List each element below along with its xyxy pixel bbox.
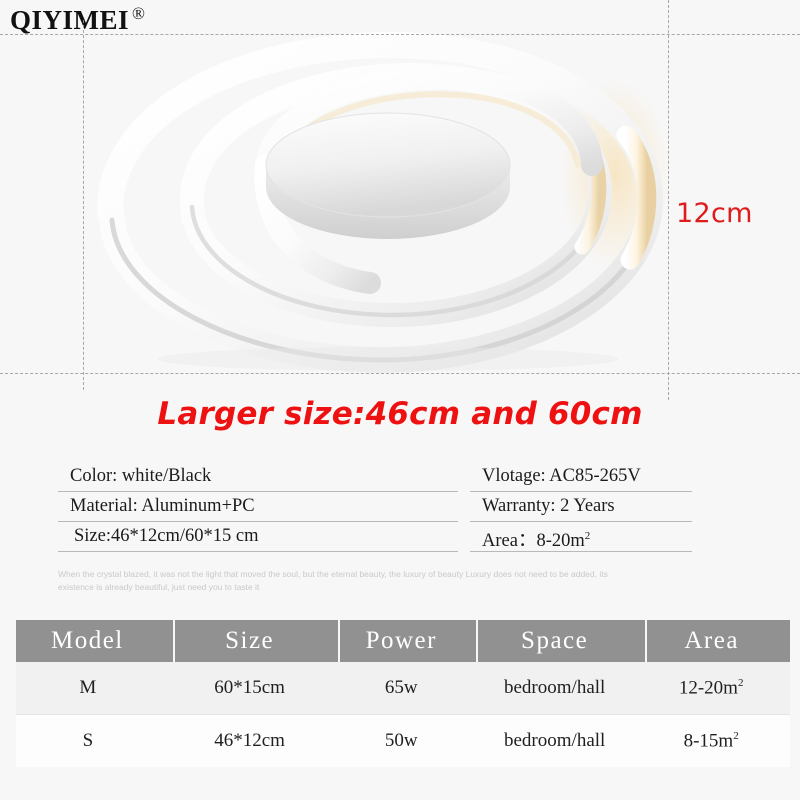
model-comparison-table: Model Size Power Space Area M 60*15cm 65…	[16, 620, 790, 767]
specification-summary: Color: white/Black Material: Aluminum+PC…	[0, 462, 800, 557]
spiral-ceiling-lamp-illustration	[70, 15, 690, 385]
cell-area: 8-15m2	[646, 715, 790, 768]
spec-area: Area：8-20m2	[470, 522, 692, 552]
cell-area-superscript: 2	[733, 730, 739, 742]
table-row: M 60*15cm 65w bedroom/hall 12-20m2	[16, 662, 790, 715]
cell-power: 50w	[339, 715, 477, 768]
spec-material: Material: Aluminum+PC	[58, 492, 458, 522]
cell-space: bedroom/hall	[477, 715, 646, 768]
spec-area-value: 8-20m	[536, 531, 584, 551]
product-listing-page: QIYIMEI®	[0, 0, 800, 800]
column-header-power: Power	[339, 620, 477, 662]
measure-guide-top	[0, 34, 800, 35]
column-header-space: Space	[477, 620, 646, 662]
cell-area: 12-20m2	[646, 662, 790, 715]
measure-guide-right	[668, 0, 669, 400]
cell-model: M	[16, 662, 174, 715]
measure-guide-bottom	[0, 373, 800, 374]
cell-area-value: 12-20m	[679, 677, 738, 698]
column-header-area: Area	[646, 620, 790, 662]
product-hero-image: 12cm	[0, 0, 800, 390]
table-row: S 46*12cm 50w bedroom/hall 8-15m2	[16, 715, 790, 768]
marketing-blurb: When the crystal blazed, it was not the …	[58, 568, 618, 594]
measure-guide-left	[83, 20, 84, 390]
spec-column-left: Color: white/Black Material: Aluminum+PC…	[58, 462, 458, 552]
spec-area-superscript: 2	[585, 530, 591, 542]
cell-size: 60*15cm	[174, 662, 340, 715]
spec-color: Color: white/Black	[58, 462, 458, 492]
dimension-label-height: 12cm	[676, 198, 753, 229]
spec-size: Size:46*12cm/60*15 cm	[58, 522, 458, 552]
cell-space: bedroom/hall	[477, 662, 646, 715]
spec-area-label: Area：	[482, 531, 536, 551]
larger-size-banner: Larger size:46cm and 60cm	[0, 396, 800, 432]
cell-size: 46*12cm	[174, 715, 340, 768]
spec-warranty: Warranty: 2 Years	[470, 492, 692, 522]
spec-voltage: Vlotage: AC85-265V	[470, 462, 692, 492]
table-header-row: Model Size Power Space Area	[16, 620, 790, 662]
cell-area-superscript: 2	[738, 677, 744, 689]
cell-power: 65w	[339, 662, 477, 715]
column-header-model: Model	[16, 620, 174, 662]
cell-model: S	[16, 715, 174, 768]
column-header-size: Size	[174, 620, 340, 662]
cell-area-value: 8-15m	[684, 730, 734, 751]
spec-column-right: Vlotage: AC85-265V Warranty: 2 Years Are…	[470, 462, 692, 552]
